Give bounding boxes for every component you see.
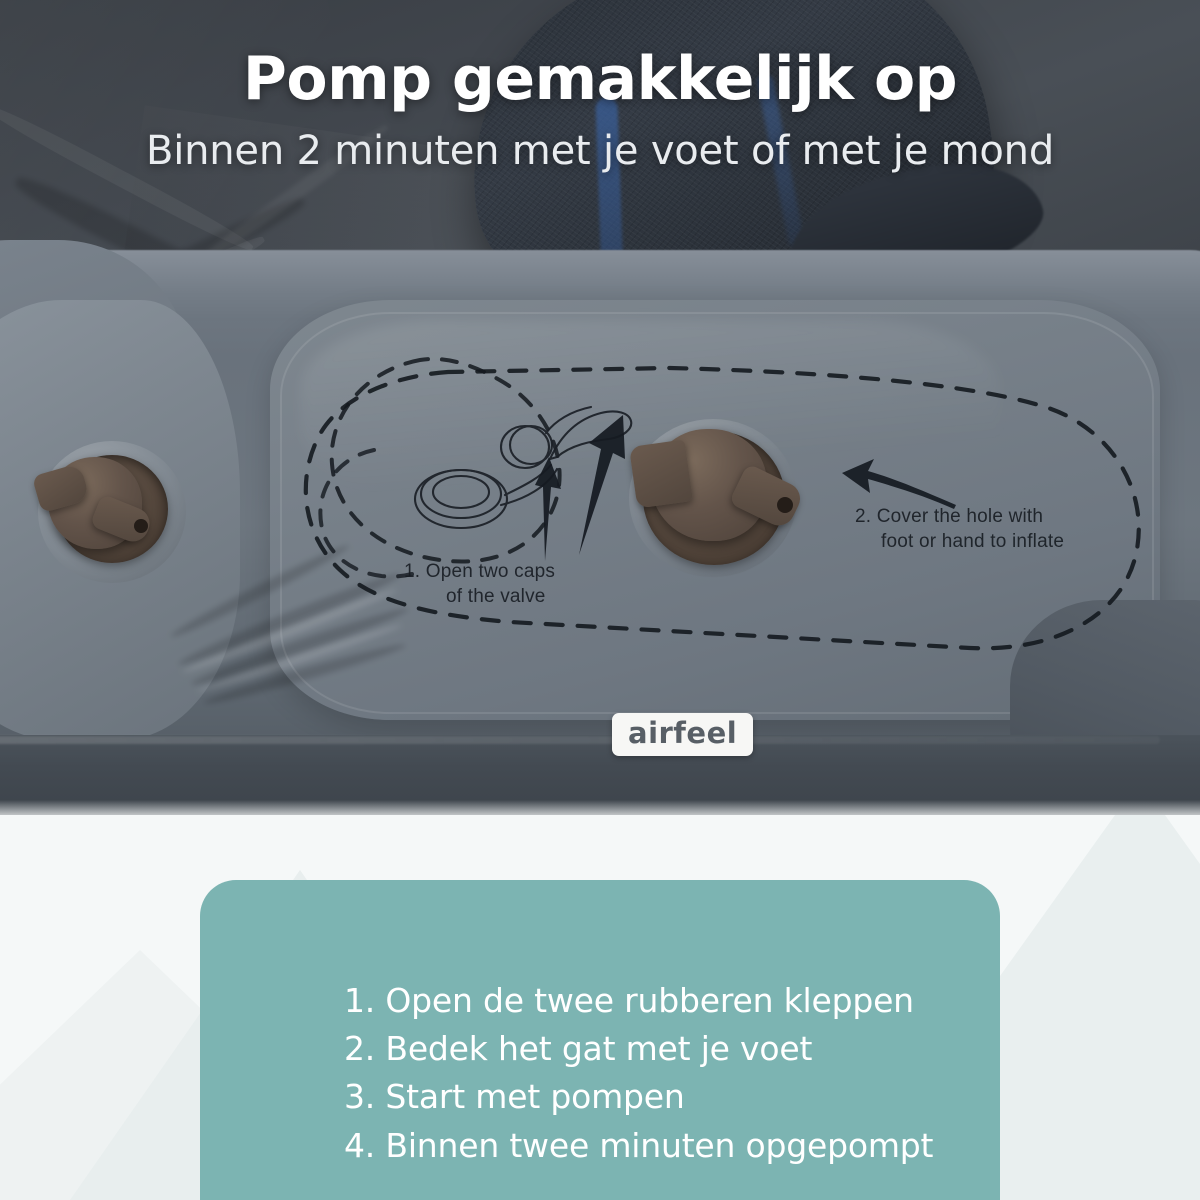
page-subtitle: Binnen 2 minuten met je voet of met je m… <box>0 128 1200 174</box>
promo-image: 1. Open two caps of the valve 2. Cover t… <box>0 0 1200 1200</box>
valve-cap-tab <box>629 439 693 508</box>
list-item: 2. Bedek het gat met je voet <box>344 1025 1044 1073</box>
list-item: 4. Binnen twee minuten opgepompt <box>344 1122 1044 1170</box>
product-caption-line: 1. Open two caps <box>404 560 555 585</box>
product-caption-line: 2. Cover the hole with <box>855 505 1064 530</box>
valve-strap-hole <box>134 519 148 533</box>
mattress-lip-highlight <box>0 736 1160 744</box>
brand-logo-patch: airfeel <box>612 713 753 756</box>
product-photo: 1. Open two caps of the valve 2. Cover t… <box>0 0 1200 815</box>
page-title: Pomp gemakkelijk op <box>0 44 1200 114</box>
cover-hole-arrow-icon <box>840 455 960 510</box>
instruction-card: 1. Open de twee rubberen kleppen 2. Bede… <box>200 880 1000 1200</box>
valve-left <box>30 435 210 590</box>
list-item: 3. Start met pompen <box>344 1073 1044 1121</box>
product-caption-cover-hole: 2. Cover the hole with foot or hand to i… <box>855 505 1064 554</box>
product-caption-line: of the valve <box>446 585 555 610</box>
valve-strap-hole <box>777 497 793 513</box>
instruction-list: 1. Open de twee rubberen kleppen 2. Bede… <box>304 977 1044 1170</box>
valve-center <box>625 415 815 580</box>
product-caption-open-caps: 1. Open two caps of the valve <box>404 560 555 609</box>
photo-bottom-fade <box>0 800 1200 815</box>
brand-logo-text: airfeel <box>628 719 737 748</box>
product-caption-line: foot or hand to inflate <box>881 530 1064 555</box>
inflate-arrow-icon <box>505 405 635 565</box>
list-item: 1. Open de twee rubberen kleppen <box>344 977 1044 1025</box>
